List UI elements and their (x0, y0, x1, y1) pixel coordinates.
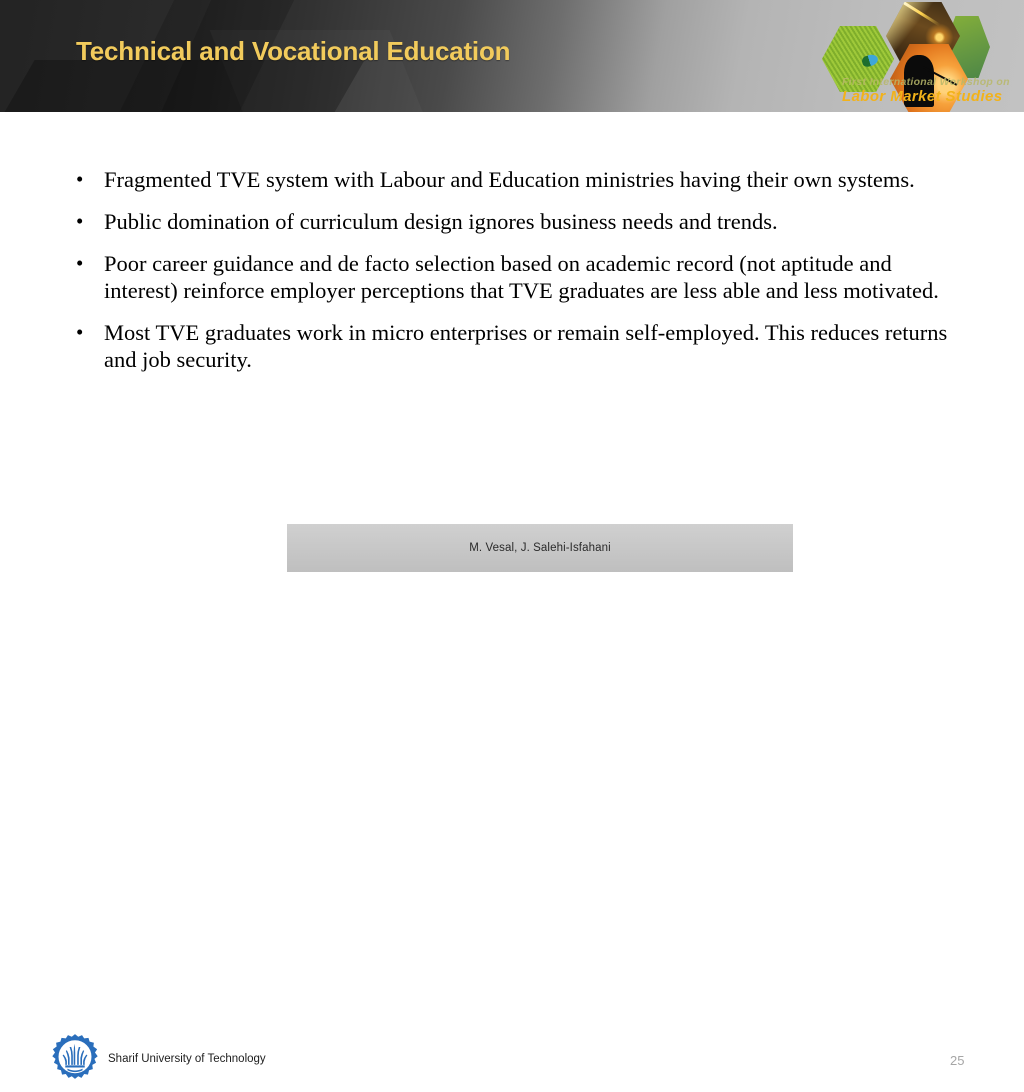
workshop-logo-line1: First International Workshop on (842, 76, 1010, 88)
bullet-item: •Poor career guidance and de facto selec… (68, 250, 968, 304)
bullet-item: •Fragmented TVE system with Labour and E… (68, 166, 968, 193)
slide-body: •Fragmented TVE system with Labour and E… (0, 112, 1024, 512)
slide-footer: M. Vesal, J. Salehi-Isfahani Sharif Univ… (0, 512, 1024, 576)
bullet-text: Public domination of curriculum design i… (104, 208, 968, 235)
spark-icon (902, 0, 941, 26)
bullet-text: Fragmented TVE system with Labour and Ed… (104, 166, 968, 193)
insect-icon (861, 53, 880, 68)
university-name-label: Sharif University of Technology (108, 1053, 266, 1065)
bullet-marker-icon: • (68, 250, 104, 277)
footer-authors: M. Vesal, J. Salehi-Isfahani (287, 524, 793, 572)
bullet-marker-icon: • (68, 319, 104, 346)
bullet-marker-icon: • (68, 166, 104, 193)
bullet-text: Poor career guidance and de facto select… (104, 250, 968, 304)
bullet-list: •Fragmented TVE system with Labour and E… (68, 166, 968, 388)
bullet-text: Most TVE graduates work in micro enterpr… (104, 319, 968, 373)
page-number: 25 (950, 1053, 964, 1068)
slide-header-band: Technical and Vocational Education First… (0, 0, 1024, 112)
bullet-item: •Public domination of curriculum design … (68, 208, 968, 235)
bullet-item: •Most TVE graduates work in micro enterp… (68, 319, 968, 373)
sharif-university-logo-icon (48, 1033, 102, 1087)
workshop-logo: First International Workshop on Labor Ma… (794, 0, 1024, 112)
header-facet-decoration (0, 60, 365, 112)
workshop-logo-line2: Labor Market Studies (842, 88, 1003, 105)
bullet-marker-icon: • (68, 208, 104, 235)
slide-title: Technical and Vocational Education (76, 36, 510, 67)
